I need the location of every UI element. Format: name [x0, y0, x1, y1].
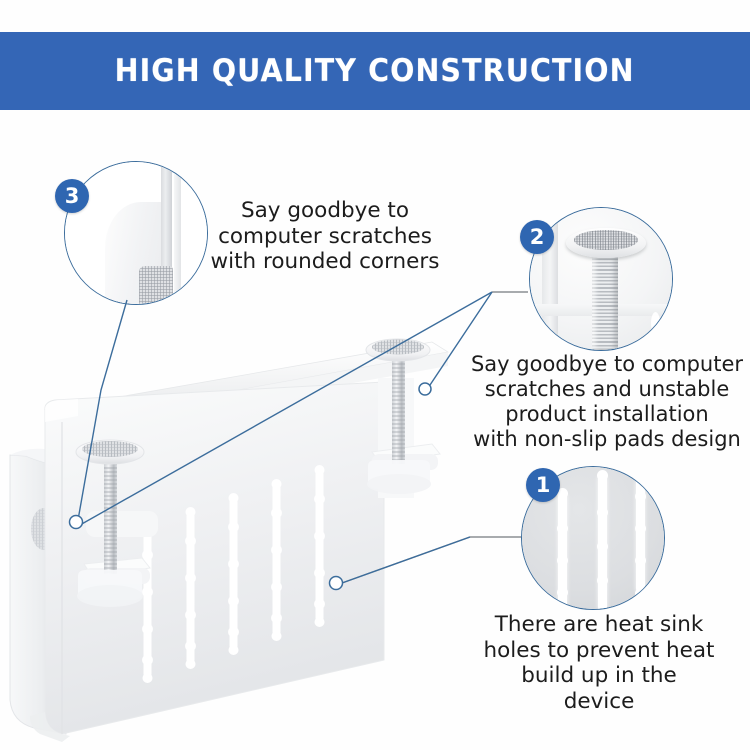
callout-badge-1: 1 — [526, 468, 560, 502]
leader-line-3 — [78, 300, 127, 520]
leader-line-2a — [428, 292, 492, 388]
leader-line-1 — [342, 537, 521, 583]
leader-line-group — [0, 0, 750, 750]
callout-badge-3: 3 — [55, 179, 89, 213]
leader-endpoint-1 — [330, 577, 343, 590]
callout-badge-2: 2 — [520, 220, 554, 254]
leader-endpoint-2a — [419, 383, 431, 395]
infographic-canvas: HIGH QUALITY CONSTRUCTION — [0, 0, 750, 750]
leader-line-2b — [80, 292, 492, 525]
